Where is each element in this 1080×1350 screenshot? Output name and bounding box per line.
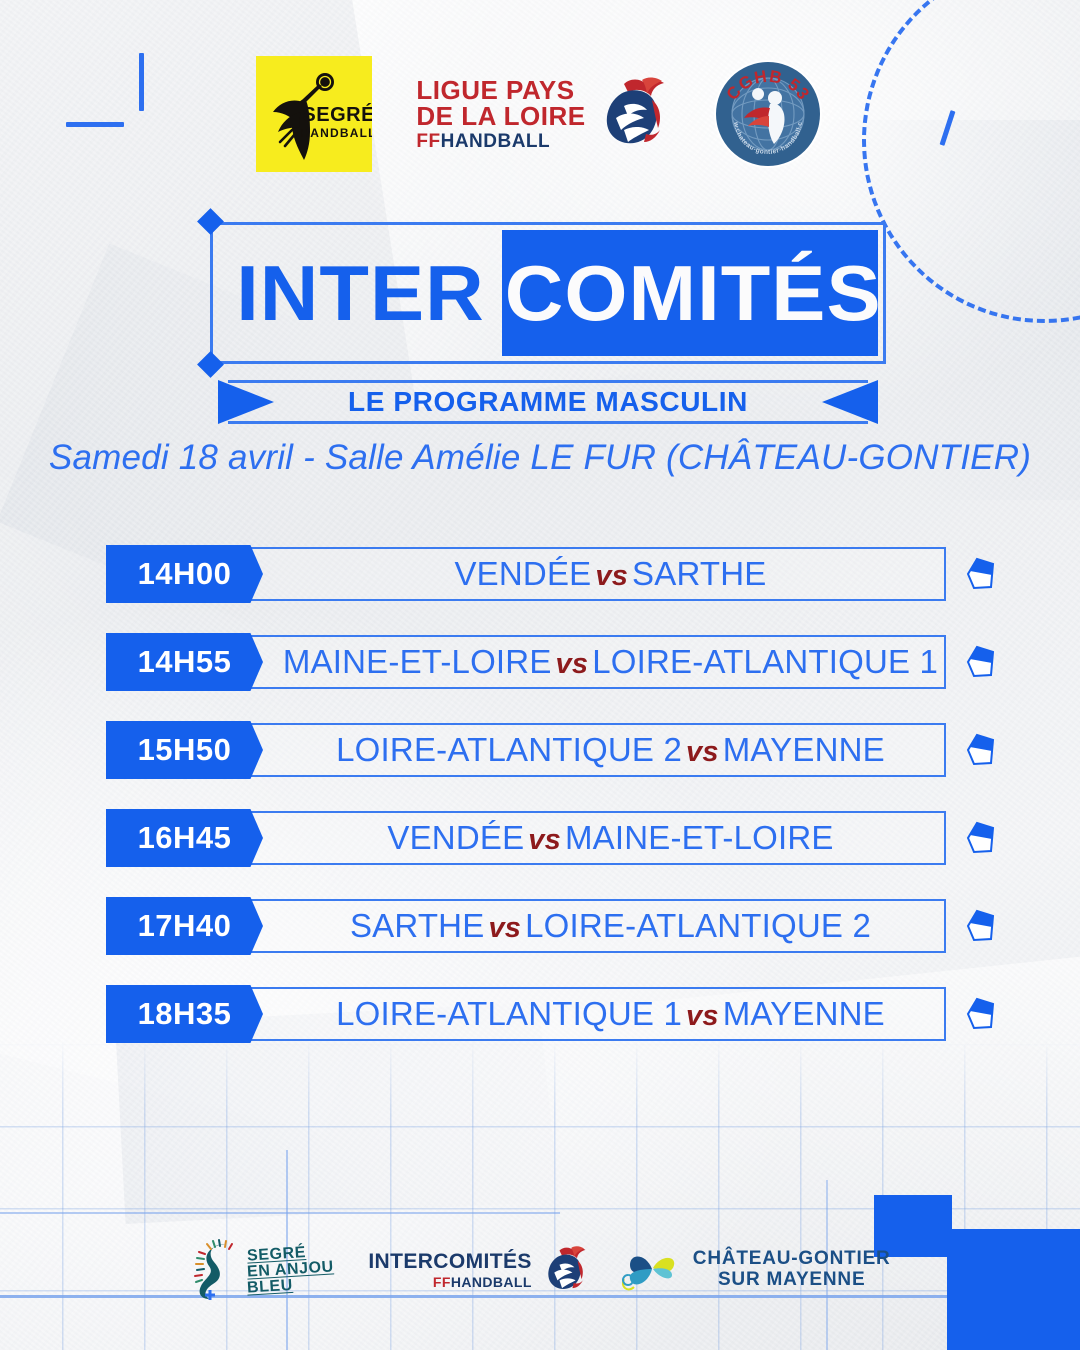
pennant-marker-icon bbox=[966, 557, 996, 591]
home-team: VENDÉE bbox=[454, 555, 591, 592]
subtitle-banner: LE PROGRAMME MASCULIN bbox=[218, 380, 878, 424]
title-comites: COMITÉS bbox=[505, 248, 882, 339]
away-team: MAYENNE bbox=[723, 995, 885, 1032]
butterfly-icon bbox=[622, 1245, 684, 1295]
french-rooster-icon bbox=[594, 76, 668, 152]
segre-logo-line2: HANDBALL bbox=[300, 126, 372, 140]
vs-label: vs bbox=[552, 648, 593, 680]
page-title: INTER COMITÉS bbox=[210, 222, 886, 364]
ffhandball-ff-footer: FF bbox=[433, 1274, 451, 1290]
table-row: 14H00 VENDÉEvsSARTHE bbox=[0, 545, 1080, 603]
match-fixture-box: VENDÉEvsMAINE-ET-LOIRE bbox=[247, 811, 946, 865]
match-time-badge: 16H45 bbox=[106, 809, 263, 867]
vs-label: vs bbox=[591, 560, 632, 592]
chevron-right-icon bbox=[218, 380, 274, 424]
match-fixture-box: SARTHEvsLOIRE-ATLANTIQUE 2 bbox=[247, 899, 946, 953]
match-time-badge: 18H35 bbox=[106, 985, 263, 1043]
segre-s-curve-icon bbox=[189, 1238, 243, 1302]
match-fixture-text: VENDÉEvsMAINE-ET-LOIRE bbox=[387, 819, 833, 857]
chateau-gontier-sur-mayenne-logo: CHÂTEAU-GONTIER SUR MAYENNE bbox=[622, 1245, 891, 1295]
grid-line-horizontal bbox=[0, 1212, 560, 1214]
segre-handball-logo: SEGRÉ HANDBALL bbox=[256, 56, 372, 172]
vs-label: vs bbox=[682, 1000, 723, 1032]
vs-label: vs bbox=[524, 824, 565, 856]
match-fixture-text: MAINE-ET-LOIREvsLOIRE-ATLANTIQUE 1 bbox=[283, 643, 938, 681]
intercomites-wordmark: INTERCOMITÉS bbox=[368, 1251, 531, 1273]
table-row: 15H50 LOIRE-ATLANTIQUE 2vsMAYENNE bbox=[0, 721, 1080, 779]
intercomites-ffhandball-logo: INTERCOMITÉS FFHANDBALL bbox=[368, 1245, 587, 1295]
table-row: 17H40 SARTHEvsLOIRE-ATLANTIQUE 2 bbox=[0, 897, 1080, 955]
match-fixture-text: VENDÉEvsSARTHE bbox=[454, 555, 766, 593]
ffhandball-handball: HANDBALL bbox=[441, 131, 551, 152]
segre-logo-line1: SEGRÉ bbox=[302, 104, 372, 127]
chevron-left-icon bbox=[822, 380, 878, 424]
pennant-marker-icon bbox=[966, 821, 996, 855]
pennant-marker-icon bbox=[966, 997, 996, 1031]
ffhandball-wordmark-footer: FFHANDBALL bbox=[368, 1275, 531, 1290]
french-rooster-icon-footer bbox=[540, 1245, 588, 1295]
match-fixture-text: LOIRE-ATLANTIQUE 2vsMAYENNE bbox=[336, 731, 885, 769]
cghb-badge-icon: CGHB 53 www.chateau-gontier-handball.com bbox=[712, 58, 824, 170]
home-team: LOIRE-ATLANTIQUE 2 bbox=[336, 731, 682, 768]
segre-en-anjou-bleu-logo: SEGRÉ EN ANJOU BLEU bbox=[189, 1238, 334, 1302]
header-logo-row: SEGRÉ HANDBALL LIGUE PAYS DE LA LOIRE FF… bbox=[0, 44, 1080, 184]
ffhandball-wordmark: FFHANDBALL bbox=[416, 132, 585, 151]
title-right-half: COMITÉS bbox=[502, 230, 878, 356]
away-team: LOIRE-ATLANTIQUE 1 bbox=[592, 643, 938, 680]
segre-footer-line3: BLEU bbox=[247, 1276, 335, 1298]
table-row: 18H35 LOIRE-ATLANTIQUE 1vsMAYENNE bbox=[0, 985, 1080, 1043]
home-team: VENDÉE bbox=[387, 819, 524, 856]
match-time-badge: 15H50 bbox=[106, 721, 263, 779]
match-fixture-box: VENDÉEvsSARTHE bbox=[247, 547, 946, 601]
banner-rule-top bbox=[228, 380, 868, 383]
ligue-logo-line2: DE LA LOIRE bbox=[416, 103, 585, 129]
match-time-badge: 14H55 bbox=[106, 633, 263, 691]
home-team: LOIRE-ATLANTIQUE 1 bbox=[336, 995, 682, 1032]
home-team: SARTHE bbox=[350, 907, 484, 944]
ligue-logo-line1: LIGUE PAYS bbox=[416, 77, 585, 103]
ffhandball-handball-footer: HANDBALL bbox=[451, 1274, 532, 1290]
away-team: MAYENNE bbox=[723, 731, 885, 768]
chateau-gontier-line1: CHÂTEAU-GONTIER bbox=[693, 1249, 891, 1270]
match-fixture-box: LOIRE-ATLANTIQUE 1vsMAYENNE bbox=[247, 987, 946, 1041]
ffhandball-ff: FF bbox=[416, 131, 440, 152]
match-schedule-list: 14H00 VENDÉEvsSARTHE 14H55 MAINE-ET-LOIR… bbox=[0, 545, 1080, 1073]
cghb-53-logo: CGHB 53 www.chateau-gontier-handball.com bbox=[712, 58, 824, 170]
date-venue-line: Samedi 18 avril - Salle Amélie LE FUR (C… bbox=[0, 438, 1080, 478]
pennant-marker-icon bbox=[966, 645, 996, 679]
pennant-marker-icon bbox=[966, 909, 996, 943]
match-fixture-text: SARTHEvsLOIRE-ATLANTIQUE 2 bbox=[350, 907, 871, 945]
ligue-pays-de-la-loire-logo: LIGUE PAYS DE LA LOIRE FFHANDBALL bbox=[416, 76, 667, 152]
footer-logo-row: SEGRÉ EN ANJOU BLEU INTERCOMITÉS FFHANDB… bbox=[0, 1232, 1080, 1308]
banner-rule-bottom bbox=[228, 421, 868, 424]
match-fixture-box: LOIRE-ATLANTIQUE 2vsMAYENNE bbox=[247, 723, 946, 777]
poster-canvas: SEGRÉ HANDBALL LIGUE PAYS DE LA LOIRE FF… bbox=[0, 0, 1080, 1350]
title-left-half: INTER bbox=[218, 230, 502, 356]
vs-label: vs bbox=[682, 736, 723, 768]
match-fixture-text: LOIRE-ATLANTIQUE 1vsMAYENNE bbox=[336, 995, 885, 1033]
pennant-marker-icon bbox=[966, 733, 996, 767]
title-inter: INTER bbox=[236, 248, 485, 339]
home-team: MAINE-ET-LOIRE bbox=[283, 643, 552, 680]
vs-label: vs bbox=[484, 912, 525, 944]
away-team: LOIRE-ATLANTIQUE 2 bbox=[525, 907, 871, 944]
match-time-badge: 14H00 bbox=[106, 545, 263, 603]
match-fixture-box: MAINE-ET-LOIREvsLOIRE-ATLANTIQUE 1 bbox=[247, 635, 946, 689]
table-row: 14H55 MAINE-ET-LOIREvsLOIRE-ATLANTIQUE 1 bbox=[0, 633, 1080, 691]
match-time-badge: 17H40 bbox=[106, 897, 263, 955]
away-team: MAINE-ET-LOIRE bbox=[565, 819, 834, 856]
table-row: 16H45 VENDÉEvsMAINE-ET-LOIRE bbox=[0, 809, 1080, 867]
subtitle-text: LE PROGRAMME MASCULIN bbox=[348, 386, 748, 418]
away-team: SARTHE bbox=[632, 555, 766, 592]
chateau-gontier-line2: SUR MAYENNE bbox=[693, 1270, 891, 1291]
